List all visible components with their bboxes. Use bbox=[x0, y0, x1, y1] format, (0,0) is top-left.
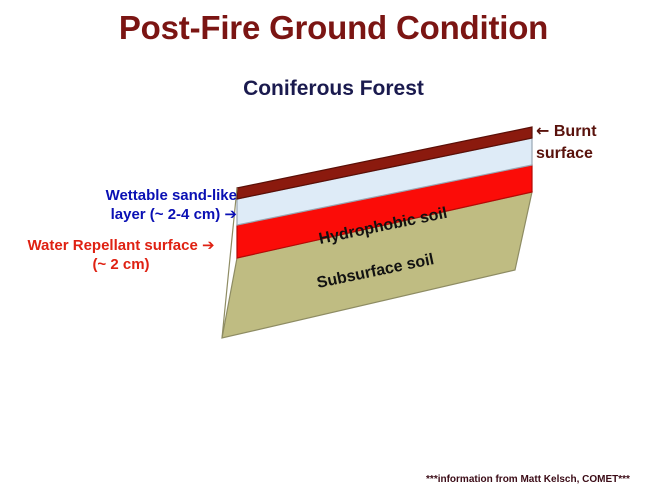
slide-canvas: Post-Fire Ground Condition Coniferous Fo… bbox=[0, 0, 667, 500]
callout-burnt-surface: ← Burnt surface bbox=[536, 120, 597, 165]
arrow-right-icon: ➔ bbox=[224, 205, 237, 223]
arrow-left-icon: ← bbox=[536, 121, 549, 140]
source-credit: ***information from Matt Kelsch, COMET**… bbox=[397, 474, 659, 485]
callout-repellant-line1: Water Repellant surface bbox=[27, 237, 197, 254]
callout-water-repellant-surface: Water Repellant surface ➔ (~ 2 cm) bbox=[8, 236, 234, 274]
callout-wettable-line2: layer (~ 2-4 cm) bbox=[111, 206, 221, 223]
callout-repellant-line2: (~ 2 cm) bbox=[8, 255, 234, 274]
arrow-right-icon: ➔ bbox=[202, 236, 215, 254]
callout-burnt-line1: Burnt bbox=[554, 123, 597, 140]
callout-repellant-line1-row: Water Repellant surface ➔ bbox=[8, 236, 234, 255]
callout-burnt-line2: surface bbox=[536, 143, 597, 165]
callout-wettable-line2-row: layer (~ 2-4 cm) ➔ bbox=[106, 205, 237, 224]
callout-wettable-sand-layer: Wettable sand-like layer (~ 2-4 cm) ➔ bbox=[106, 186, 237, 224]
callout-wettable-line1: Wettable sand-like bbox=[106, 186, 237, 205]
callout-burnt-line1-row: ← Burnt bbox=[536, 120, 597, 143]
